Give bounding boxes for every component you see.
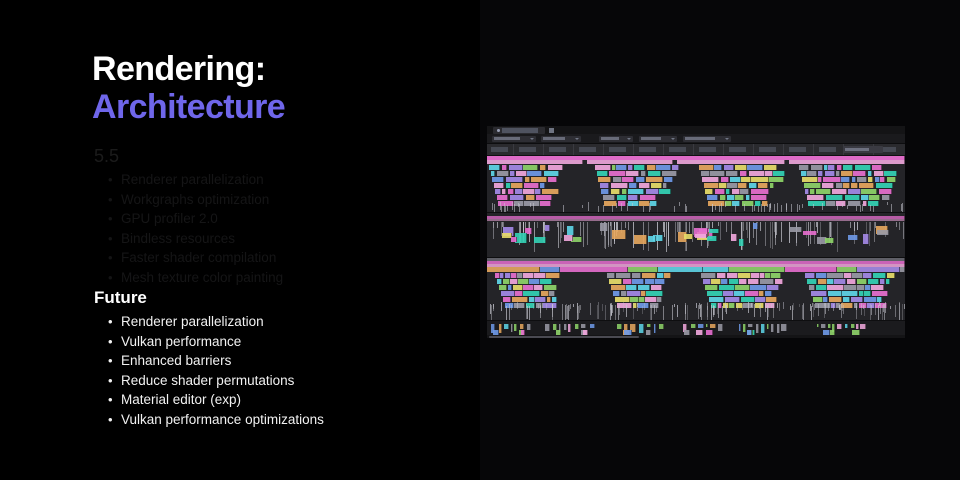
flame-block[interactable] (828, 291, 842, 296)
flame-block[interactable] (707, 236, 717, 241)
flame-block[interactable] (545, 225, 550, 231)
flame-block[interactable] (709, 229, 719, 233)
flame-block[interactable] (739, 324, 741, 331)
flame-block[interactable] (900, 267, 905, 272)
flame-block[interactable] (882, 195, 890, 200)
flame-block[interactable] (509, 165, 523, 170)
flame-block[interactable] (534, 285, 543, 290)
flame-block[interactable] (506, 183, 511, 188)
flame-block[interactable] (721, 177, 729, 182)
flame-block[interactable] (837, 267, 858, 272)
flame-block[interactable] (623, 279, 632, 284)
flame-block[interactable] (751, 189, 769, 194)
flame-block[interactable] (845, 324, 848, 328)
flame-block[interactable] (863, 234, 869, 243)
flame-block[interactable] (611, 189, 620, 194)
flame-block[interactable] (726, 171, 738, 176)
flame-block[interactable] (855, 165, 871, 170)
flame-block[interactable] (732, 189, 740, 194)
flame-block[interactable] (809, 285, 815, 290)
flame-block[interactable] (508, 285, 513, 290)
zoom-select[interactable] (683, 136, 731, 142)
flame-block[interactable] (495, 273, 500, 278)
flame-block[interactable] (887, 273, 895, 278)
flame-block[interactable] (724, 165, 734, 170)
flame-block[interactable] (877, 230, 889, 234)
flame-block[interactable] (545, 324, 550, 331)
flame-block[interactable] (611, 183, 628, 188)
flame-block[interactable] (781, 324, 787, 331)
flame-block[interactable] (515, 291, 522, 296)
flame-block[interactable] (847, 279, 856, 284)
flame-block[interactable] (828, 324, 831, 328)
flame-block[interactable] (651, 183, 662, 188)
flame-block[interactable] (857, 285, 865, 290)
flame-block[interactable] (640, 195, 656, 200)
lane-main-thread[interactable] (487, 156, 905, 212)
flame-block[interactable] (857, 177, 868, 182)
flame-block[interactable] (534, 273, 545, 278)
flame-block[interactable] (739, 239, 744, 246)
flame-block[interactable] (513, 285, 523, 290)
flame-block[interactable] (735, 285, 750, 290)
flame-block[interactable] (751, 273, 759, 278)
flame-block[interactable] (765, 291, 772, 296)
flame-block[interactable] (856, 324, 859, 329)
profiler-tabbar[interactable] (487, 126, 905, 134)
flame-block[interactable] (529, 279, 540, 284)
flame-block[interactable] (664, 177, 673, 182)
flame-block[interactable] (511, 273, 516, 278)
flame-block[interactable] (851, 183, 858, 188)
flame-block[interactable] (749, 183, 758, 188)
flame-block[interactable] (597, 171, 609, 176)
flame-block[interactable] (825, 171, 835, 176)
flame-block[interactable] (645, 279, 655, 284)
flame-block[interactable] (650, 201, 657, 206)
flame-block[interactable] (567, 226, 574, 235)
flame-block[interactable] (785, 267, 837, 272)
flame-block[interactable] (836, 171, 841, 176)
flame-block[interactable] (852, 177, 856, 182)
flame-block[interactable] (677, 160, 785, 164)
flame-block[interactable] (655, 279, 665, 284)
session-select[interactable] (492, 136, 536, 142)
flame-block[interactable] (872, 291, 888, 296)
flame-block[interactable] (529, 297, 535, 302)
flame-block[interactable] (702, 177, 719, 182)
flame-block[interactable] (535, 189, 541, 194)
flame-block[interactable] (864, 291, 871, 296)
flame-block[interactable] (771, 324, 773, 332)
flame-block[interactable] (609, 279, 622, 284)
flame-block[interactable] (818, 171, 823, 176)
flame-block[interactable] (709, 297, 724, 302)
flame-block[interactable] (823, 177, 841, 182)
flame-block[interactable] (546, 273, 560, 278)
flame-block[interactable] (524, 183, 539, 188)
flame-block[interactable] (634, 235, 647, 243)
flame-block[interactable] (746, 195, 750, 200)
flame-block[interactable] (503, 297, 511, 302)
flame-block[interactable] (723, 291, 734, 296)
flame-block[interactable] (821, 324, 826, 328)
flame-block[interactable] (523, 189, 534, 194)
flame-block[interactable] (703, 279, 711, 284)
flame-block[interactable] (865, 285, 870, 290)
flame-block[interactable] (516, 171, 527, 176)
flame-block[interactable] (501, 291, 515, 296)
flame-block[interactable] (876, 183, 893, 188)
flame-block[interactable] (512, 297, 528, 302)
flame-block[interactable] (628, 201, 639, 206)
flame-block[interactable] (518, 279, 528, 284)
flame-block[interactable] (515, 233, 527, 242)
flame-block[interactable] (857, 279, 868, 284)
flame-block[interactable] (740, 189, 749, 194)
flame-block[interactable] (672, 165, 679, 170)
flame-block[interactable] (743, 324, 746, 332)
flame-block[interactable] (841, 171, 853, 176)
flame-block[interactable] (684, 234, 694, 239)
flame-block[interactable] (837, 324, 843, 329)
flame-block[interactable] (770, 183, 774, 188)
flame-block[interactable] (760, 279, 775, 284)
thread-select[interactable] (639, 136, 677, 142)
flame-block[interactable] (811, 291, 827, 296)
flame-block[interactable] (829, 297, 843, 302)
flame-block[interactable] (547, 297, 552, 302)
flame-block[interactable] (816, 273, 827, 278)
flame-block[interactable] (548, 165, 564, 170)
flame-block[interactable] (880, 279, 885, 284)
flame-block[interactable] (711, 279, 720, 284)
flame-block[interactable] (868, 177, 873, 182)
flame-block[interactable] (534, 237, 546, 243)
flame-block[interactable] (741, 177, 751, 182)
close-icon[interactable] (549, 128, 554, 133)
flame-block[interactable] (843, 297, 850, 302)
flame-block[interactable] (715, 189, 726, 194)
flame-block[interactable] (750, 285, 767, 290)
flame-block[interactable] (540, 201, 550, 206)
flame-block[interactable] (487, 219, 905, 221)
flame-block[interactable] (859, 291, 864, 296)
flame-block[interactable] (487, 267, 540, 272)
flame-block[interactable] (541, 291, 549, 296)
flame-block[interactable] (735, 195, 744, 200)
flame-block[interactable] (773, 171, 785, 176)
flame-block[interactable] (626, 171, 638, 176)
flame-block[interactable] (511, 237, 517, 242)
flame-block[interactable] (725, 201, 731, 206)
flame-block[interactable] (817, 324, 819, 327)
flame-block[interactable] (641, 171, 646, 176)
flame-block[interactable] (708, 201, 725, 206)
flame-block[interactable] (639, 324, 643, 333)
flame-block[interactable] (497, 279, 502, 284)
flame-block[interactable] (500, 273, 504, 278)
flame-block[interactable] (875, 177, 880, 182)
flame-block[interactable] (805, 189, 809, 194)
flame-block[interactable] (868, 279, 880, 284)
flame-block[interactable] (859, 183, 875, 188)
flame-block[interactable] (659, 189, 671, 194)
flame-block[interactable] (873, 273, 887, 278)
flame-block[interactable] (523, 285, 533, 290)
flame-block[interactable] (506, 177, 524, 182)
flame-block[interactable] (575, 324, 579, 329)
flame-block[interactable] (764, 165, 778, 170)
flame-block[interactable] (656, 165, 671, 170)
flame-block[interactable] (735, 165, 747, 170)
flame-block[interactable] (827, 279, 834, 284)
flame-block[interactable] (627, 291, 641, 296)
flame-block[interactable] (811, 165, 824, 170)
flame-block[interactable] (710, 324, 716, 328)
flame-block[interactable] (517, 273, 522, 278)
flame-block[interactable] (581, 324, 587, 328)
flame-block[interactable] (880, 177, 885, 182)
flame-block[interactable] (861, 189, 877, 194)
flame-block[interactable] (805, 273, 815, 278)
flame-block[interactable] (874, 171, 884, 176)
flame-block[interactable] (760, 273, 765, 278)
flame-block[interactable] (718, 324, 723, 331)
flame-block[interactable] (771, 273, 780, 278)
flame-block[interactable] (487, 160, 583, 164)
flame-block[interactable] (698, 324, 704, 328)
flame-block[interactable] (492, 177, 504, 182)
flame-block[interactable] (720, 195, 726, 200)
flame-block[interactable] (857, 267, 900, 272)
flame-block[interactable] (825, 238, 834, 243)
flame-block[interactable] (727, 183, 737, 188)
flame-block[interactable] (564, 324, 567, 330)
flame-block[interactable] (645, 297, 657, 302)
flame-block[interactable] (595, 165, 611, 170)
flame-block[interactable] (707, 195, 719, 200)
flame-block[interactable] (628, 195, 638, 200)
flame-block[interactable] (832, 189, 847, 194)
flame-block[interactable] (701, 171, 710, 176)
flame-block[interactable] (851, 324, 854, 328)
flame-block[interactable] (662, 171, 677, 176)
flame-block[interactable] (654, 324, 656, 333)
flame-block[interactable] (510, 171, 515, 176)
profiler-toolbar[interactable] (487, 134, 905, 144)
flame-block[interactable] (564, 235, 572, 240)
flame-block[interactable] (527, 171, 542, 176)
flame-block[interactable] (759, 291, 764, 296)
flame-block[interactable] (818, 177, 822, 182)
flame-block[interactable] (765, 171, 773, 176)
flame-block[interactable] (886, 279, 891, 284)
flame-block[interactable] (868, 171, 872, 176)
flame-block[interactable] (863, 201, 867, 206)
flame-block[interactable] (749, 171, 764, 176)
flame-block[interactable] (646, 291, 662, 296)
flame-block[interactable] (721, 279, 728, 284)
flame-block[interactable] (704, 183, 719, 188)
flame-block[interactable] (719, 183, 726, 188)
flame-block[interactable] (807, 171, 817, 176)
flame-block[interactable] (632, 273, 641, 278)
flame-block[interactable] (845, 195, 860, 200)
flame-block[interactable] (503, 279, 510, 284)
flame-block[interactable] (738, 273, 750, 278)
flame-block[interactable] (758, 183, 769, 188)
flame-block[interactable] (789, 160, 905, 164)
flame-block[interactable] (725, 297, 741, 302)
flame-block[interactable] (510, 195, 524, 200)
flame-block[interactable] (628, 165, 634, 170)
flame-block[interactable] (848, 189, 861, 194)
flame-block[interactable] (617, 324, 622, 329)
flame-block[interactable] (659, 324, 664, 329)
flame-block[interactable] (542, 189, 559, 194)
flame-block[interactable] (544, 285, 557, 290)
flame-block[interactable] (523, 291, 540, 296)
flame-block[interactable] (729, 279, 739, 284)
flame-block[interactable] (497, 171, 509, 176)
flame-block[interactable] (877, 297, 882, 302)
flame-block[interactable] (738, 183, 747, 188)
flame-block[interactable] (852, 273, 863, 278)
flame-block[interactable] (748, 324, 753, 327)
flame-block[interactable] (714, 165, 722, 170)
flame-block[interactable] (636, 177, 645, 182)
flame-block[interactable] (751, 195, 767, 200)
flame-block[interactable] (810, 189, 816, 194)
flame-block[interactable] (703, 267, 729, 272)
flame-block[interactable] (822, 183, 834, 188)
flame-block[interactable] (869, 195, 879, 200)
flame-block[interactable] (766, 297, 777, 302)
flame-block[interactable] (663, 183, 668, 188)
flame-block[interactable] (497, 195, 509, 200)
flame-block[interactable] (612, 230, 626, 239)
flame-block[interactable] (834, 279, 846, 284)
flame-block[interactable] (502, 165, 507, 170)
flame-block[interactable] (807, 279, 817, 284)
flame-block[interactable] (775, 279, 783, 284)
flame-block[interactable] (647, 165, 656, 170)
tab-timing-view[interactable] (493, 127, 545, 134)
lane-worker-1[interactable] (487, 213, 905, 257)
flame-block[interactable] (802, 177, 818, 182)
flame-block[interactable] (508, 189, 514, 194)
flame-block[interactable] (540, 279, 551, 284)
flame-block[interactable] (641, 291, 645, 296)
flame-block[interactable] (765, 273, 770, 278)
flame-block[interactable] (628, 189, 644, 194)
flame-block[interactable] (549, 291, 555, 296)
flame-block[interactable] (511, 183, 523, 188)
flame-block[interactable] (494, 183, 504, 188)
flame-block[interactable] (864, 297, 877, 302)
flame-block[interactable] (535, 297, 546, 302)
flame-block[interactable] (827, 273, 843, 278)
flame-block[interactable] (603, 195, 615, 200)
flame-block[interactable] (705, 285, 718, 290)
flame-block[interactable] (502, 189, 506, 194)
flame-block[interactable] (836, 183, 843, 188)
flame-block[interactable] (837, 165, 843, 170)
flame-block[interactable] (600, 183, 609, 188)
flame-block[interactable] (887, 177, 896, 182)
flame-block[interactable] (613, 291, 620, 296)
flame-block[interactable] (664, 273, 670, 278)
flame-block[interactable] (648, 171, 661, 176)
flame-block[interactable] (695, 234, 707, 238)
flame-block[interactable] (745, 291, 758, 296)
flame-block[interactable] (622, 177, 633, 182)
flame-block[interactable] (617, 195, 627, 200)
flame-block[interactable] (523, 273, 534, 278)
flame-block[interactable] (801, 171, 807, 176)
flame-block[interactable] (632, 279, 644, 284)
flame-block[interactable] (851, 297, 863, 302)
lane-worker-2[interactable] (487, 258, 905, 320)
flame-block[interactable] (540, 165, 545, 170)
flame-block[interactable] (611, 285, 626, 290)
flame-block[interactable] (548, 177, 557, 182)
flame-block[interactable] (826, 195, 843, 200)
flame-block[interactable] (609, 171, 626, 176)
flame-block[interactable] (884, 171, 896, 176)
flame-block[interactable] (657, 297, 661, 302)
flame-block[interactable] (747, 165, 763, 170)
flame-block[interactable] (536, 195, 552, 200)
flame-block[interactable] (638, 285, 651, 290)
flame-block[interactable] (719, 285, 735, 290)
flame-block[interactable] (827, 285, 843, 290)
flame-block[interactable] (863, 273, 872, 278)
flame-block[interactable] (701, 273, 716, 278)
flame-block[interactable] (751, 177, 769, 182)
gpu-profiler-window[interactable] (487, 126, 905, 338)
flame-block[interactable] (495, 189, 501, 194)
flame-block[interactable] (648, 236, 656, 242)
flame-block[interactable] (699, 165, 714, 170)
ruler-range-select[interactable] (843, 146, 883, 153)
flame-block[interactable] (823, 297, 828, 302)
flame-block[interactable] (705, 189, 713, 194)
flame-block[interactable] (777, 324, 780, 333)
flame-block[interactable] (848, 235, 858, 240)
flame-block[interactable] (658, 267, 703, 272)
time-ruler[interactable] (487, 144, 905, 156)
flame-block[interactable] (504, 324, 509, 329)
flame-block[interactable] (767, 285, 778, 290)
flame-block[interactable] (621, 291, 627, 296)
flame-block[interactable] (612, 165, 616, 170)
flame-block[interactable] (828, 165, 834, 170)
flame-block[interactable] (520, 324, 524, 329)
flame-block[interactable] (657, 273, 664, 278)
flame-block[interactable] (629, 183, 638, 188)
view-select[interactable] (599, 136, 633, 142)
flame-block[interactable] (879, 189, 891, 194)
flame-block[interactable] (803, 231, 817, 235)
flame-block[interactable] (790, 227, 802, 231)
flame-block[interactable] (730, 177, 741, 182)
flame-block[interactable] (804, 183, 822, 188)
flame-block[interactable] (607, 273, 615, 278)
flame-block[interactable] (844, 273, 851, 278)
flame-block[interactable] (499, 324, 502, 333)
